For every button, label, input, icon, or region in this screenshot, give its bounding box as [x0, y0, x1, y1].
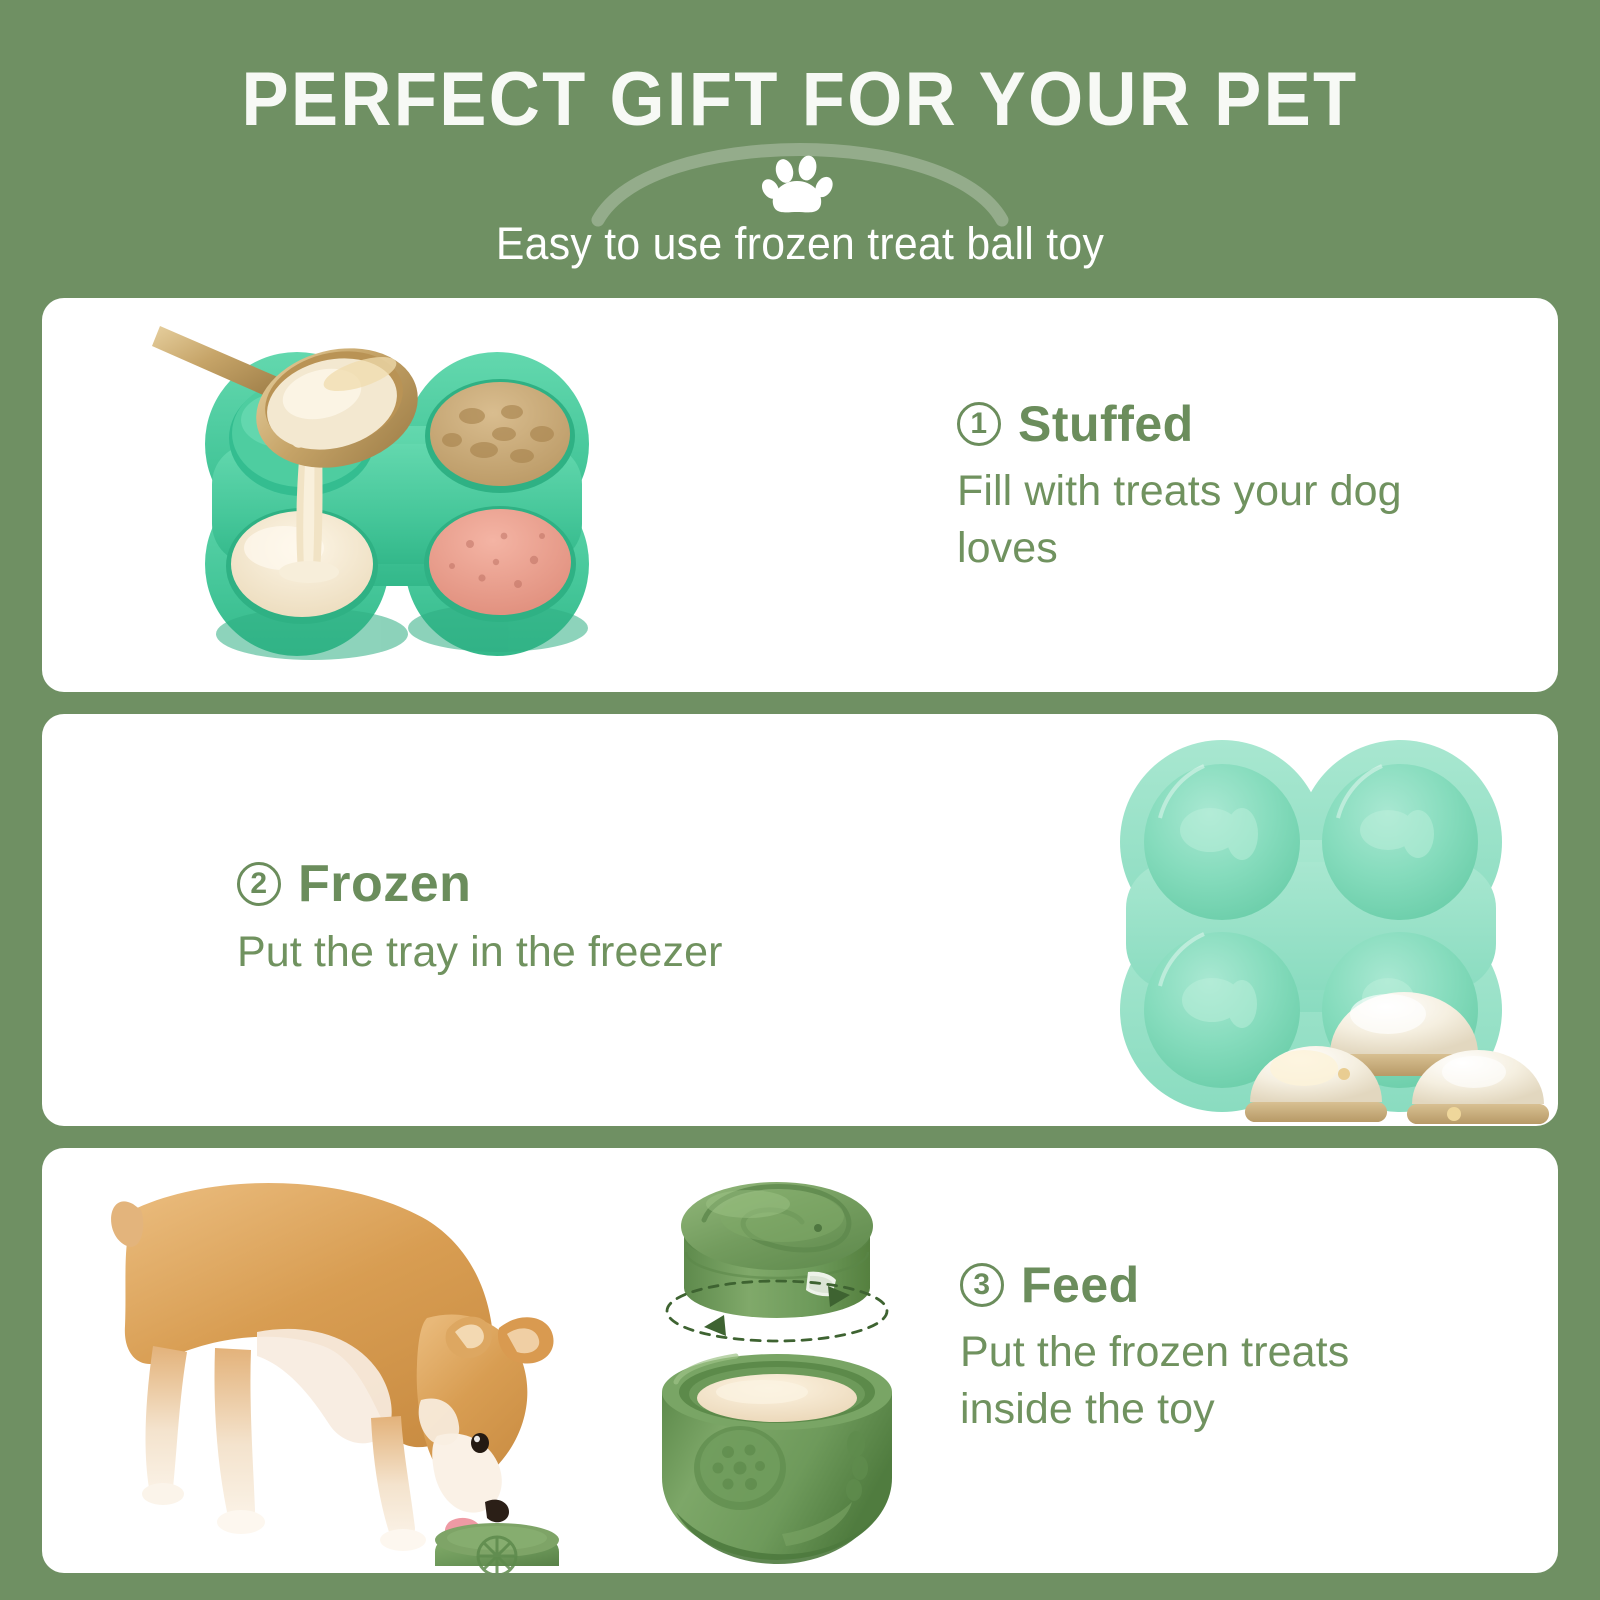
step-card-stuffed: 1 Stuffed Fill with treats your dog love…: [42, 298, 1558, 692]
step-card-feed: 3 Feed Put the frozen treats inside the …: [42, 1148, 1558, 1573]
step-2-text: 2 Frozen Put the tray in the freezer: [237, 854, 723, 981]
header: PERFECT GIFT FOR YOUR PET Easy to use fr…: [0, 0, 1600, 298]
step-2-number: 2: [237, 862, 281, 906]
step-3-body: Put the frozen treats inside the toy: [960, 1324, 1460, 1438]
step-1-number: 1: [957, 402, 1001, 446]
page-title: PERFECT GIFT FOR YOUR PET: [56, 56, 1544, 143]
step-3-number: 3: [960, 1263, 1004, 1307]
paw-print-icon: [762, 155, 838, 217]
step-2-body: Put the tray in the freezer: [237, 924, 723, 981]
page-subtitle: Easy to use frozen treat ball toy: [40, 218, 1560, 270]
dog-licking-toy-image: [97, 1150, 642, 1570]
tray-filling-image: [152, 316, 672, 686]
step-1-text: 1 Stuffed Fill with treats your dog love…: [957, 395, 1457, 577]
step-2-title: Frozen: [298, 854, 471, 914]
toy-exploded-view-image: [632, 1168, 922, 1568]
step-3-title: Feed: [1021, 1256, 1140, 1314]
step-card-frozen: 2 Frozen Put the tray in the freezer: [42, 714, 1558, 1126]
tray-with-frozen-treats-image: [1082, 722, 1558, 1122]
step-1-body: Fill with treats your dog loves: [957, 463, 1457, 577]
step-1-heading: 1 Stuffed: [957, 395, 1457, 453]
step-3-heading: 3 Feed: [960, 1256, 1460, 1314]
step-3-text: 3 Feed Put the frozen treats inside the …: [960, 1256, 1460, 1438]
step-2-heading: 2 Frozen: [237, 854, 723, 914]
step-1-title: Stuffed: [1018, 395, 1194, 453]
